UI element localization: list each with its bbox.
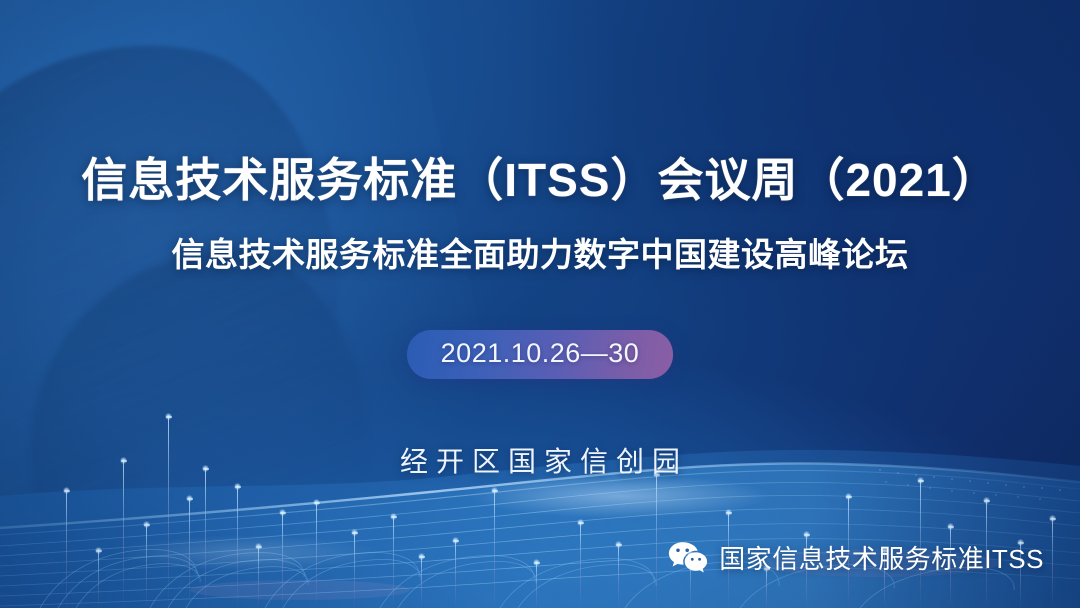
wechat-icon	[668, 541, 708, 575]
light-pole	[205, 468, 206, 608]
conference-banner: 信息技术服务标准（ITSS）会议周（2021） 信息技术服务标准全面助力数字中国…	[0, 0, 1080, 608]
light-pole	[316, 502, 317, 608]
light-pole	[237, 486, 238, 608]
light-pole	[580, 522, 581, 608]
wechat-account-name: 国家信息技术服务标准ITSS	[719, 539, 1044, 576]
light-pole	[123, 460, 124, 608]
light-pole	[258, 546, 259, 608]
light-pole	[494, 490, 495, 608]
page-title: 信息技术服务标准（ITSS）会议周（2021）	[0, 144, 1080, 210]
wechat-account-row: 国家信息技术服务标准ITSS	[668, 539, 1044, 576]
light-pole	[618, 544, 619, 608]
light-pole	[354, 532, 355, 608]
light-pole	[146, 524, 147, 608]
light-pole	[1052, 518, 1053, 608]
date-badge-row: 2021.10.26—30	[0, 330, 1080, 379]
light-pole	[66, 490, 67, 608]
light-pole	[656, 474, 657, 608]
light-pole	[393, 516, 394, 608]
venue-label: 经开区国家信创园	[0, 440, 1080, 480]
light-pole	[421, 556, 422, 608]
light-pole	[189, 498, 190, 608]
page-subtitle: 信息技术服务标准全面助力数字中国建设高峰论坛	[0, 228, 1080, 276]
light-pole	[98, 550, 99, 608]
light-pole	[282, 512, 283, 608]
date-badge: 2021.10.26—30	[407, 330, 674, 379]
light-pole	[536, 562, 537, 608]
light-pole	[455, 540, 456, 608]
